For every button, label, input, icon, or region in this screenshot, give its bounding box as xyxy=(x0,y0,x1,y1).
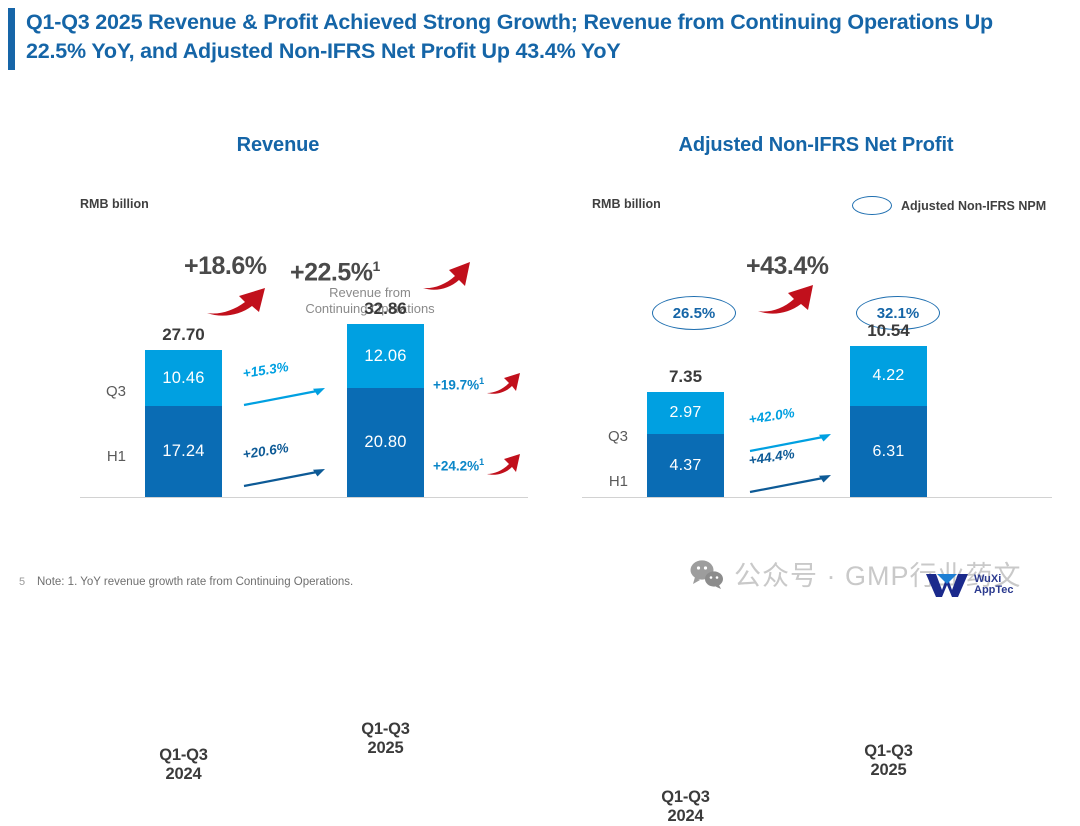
growth-label-q3-right: +42.0% xyxy=(748,405,796,427)
red-growth-arrow-icon xyxy=(205,282,271,318)
npm-value-2025: 32.1% xyxy=(877,305,920,322)
red-growth-arrow-icon-profit xyxy=(756,280,818,316)
bar-profit-2024: 7.35 2.97 4.37 Q1-Q3 2024 xyxy=(647,392,724,497)
side-growth-label-q3: +19.7%1 xyxy=(433,376,484,393)
net-profit-growth-label: +43.4% xyxy=(746,252,829,281)
category-label-profit-2025: Q1-Q3 2025 xyxy=(850,742,927,780)
page-number: 5 xyxy=(19,576,25,588)
revenue-chart-panel: Revenue RMB billion +18.6% +22.5%1 Reven… xyxy=(18,110,538,550)
revenue-plot: +18.6% +22.5%1 Revenue from Continuing O… xyxy=(18,110,538,550)
wuxi-logo-text: WuXi AppTec xyxy=(974,574,1014,597)
net-profit-plot: +43.4% 26.5% 32.1% Q3 H1 7.35 2.97 xyxy=(560,110,1072,550)
note-line-1: Revenue from xyxy=(329,285,411,300)
bar-value-q3-2024: 10.46 xyxy=(162,369,204,388)
net-profit-axis-line xyxy=(582,497,1052,498)
growth-arrow-q3-left: +15.3% xyxy=(244,366,290,381)
growth-arrow-q3-right: +42.0% xyxy=(750,412,796,427)
bar-value-h1-2024: 17.24 xyxy=(162,442,204,461)
row-label-q3: Q3 xyxy=(92,383,126,400)
bar-total-profit-2025: 10.54 xyxy=(850,321,927,341)
net-profit-chart-panel: Adjusted Non-IFRS Net Profit RMB billion… xyxy=(560,110,1072,550)
wuxi-logo-icon xyxy=(925,572,969,598)
bar-revenue-2024: 27.70 10.46 17.24 Q1-Q3 2024 xyxy=(145,350,222,497)
bar-segment-h1-2024: 17.24 xyxy=(145,406,222,497)
category-label-profit-2024: Q1-Q3 2024 xyxy=(647,788,724,826)
growth-arrow-icon-h1-left xyxy=(243,466,327,488)
bar-value-h1-profit-2025: 6.31 xyxy=(873,443,905,461)
side-growth-h1: +24.2%1 xyxy=(433,453,522,477)
revenue-continuing-growth-label: +22.5%1 xyxy=(290,258,380,287)
bar-segment-q3-2025: 12.06 xyxy=(347,324,424,388)
red-growth-arrow-icon-q3 xyxy=(486,372,522,396)
bar-value-q3-2025: 12.06 xyxy=(364,347,406,366)
title-accent-bar xyxy=(8,8,15,70)
category-label-2024: Q1-Q3 2024 xyxy=(145,746,222,784)
bar-total-profit-2024: 7.35 xyxy=(647,367,724,387)
growth-arrow-icon-h1-right xyxy=(749,472,833,494)
footnote: Note: 1. YoY revenue growth rate from Co… xyxy=(37,576,353,588)
bar-segment-q3-2024: 10.46 xyxy=(145,350,222,406)
red-growth-arrow-icon-h1 xyxy=(486,453,522,477)
bar-revenue-2025: 32.86 12.06 20.80 Q1-Q3 2025 xyxy=(347,324,424,497)
growth-arrow-icon-q3-left xyxy=(243,385,327,407)
bar-segment-h1-profit-2024: 4.37 xyxy=(647,434,724,497)
bar-segment-h1-profit-2025: 6.31 xyxy=(850,406,927,497)
growth-arrow-h1-right: +44.4% xyxy=(750,453,796,468)
bar-profit-2025: 10.54 4.22 6.31 Q1-Q3 2025 xyxy=(850,346,927,497)
revenue-total-growth-label: +18.6% xyxy=(184,252,267,281)
bar-segment-h1-2025: 20.80 xyxy=(347,388,424,497)
growth-label-q3-left: +15.3% xyxy=(242,359,290,381)
slide: Q1-Q3 2025 Revenue & Profit Achieved Str… xyxy=(0,0,1080,611)
page-title: Q1-Q3 2025 Revenue & Profit Achieved Str… xyxy=(26,8,1056,66)
bar-total-revenue-2024: 27.70 xyxy=(145,325,222,345)
bar-value-q3-profit-2025: 4.22 xyxy=(873,367,905,385)
growth-arrow-h1-left: +20.6% xyxy=(244,447,290,462)
npm-value-2024: 26.5% xyxy=(673,305,716,322)
revenue-axis-line xyxy=(80,497,528,498)
bar-total-revenue-2025: 32.86 xyxy=(347,299,424,319)
wuxi-apptec-logo: WuXi AppTec xyxy=(925,572,1014,598)
side-growth-label-h1: +24.2%1 xyxy=(433,457,484,474)
logo-line-2: AppTec xyxy=(974,585,1014,597)
bar-value-h1-profit-2024: 4.37 xyxy=(670,457,702,475)
growth-label-h1-left: +20.6% xyxy=(242,440,290,462)
bar-segment-q3-profit-2025: 4.22 xyxy=(850,346,927,406)
category-label-2025: Q1-Q3 2025 xyxy=(347,720,424,758)
side-growth-q3: +19.7%1 xyxy=(433,372,522,396)
bar-value-h1-2025: 20.80 xyxy=(364,433,406,452)
row-label-q3-right: Q3 xyxy=(594,428,628,445)
row-label-h1: H1 xyxy=(92,448,126,465)
bar-segment-q3-profit-2024: 2.97 xyxy=(647,392,724,434)
npm-oval-2024: 26.5% xyxy=(652,296,736,330)
wechat-icon xyxy=(690,559,724,589)
bar-value-q3-profit-2024: 2.97 xyxy=(670,404,702,422)
row-label-h1-right: H1 xyxy=(594,473,628,490)
